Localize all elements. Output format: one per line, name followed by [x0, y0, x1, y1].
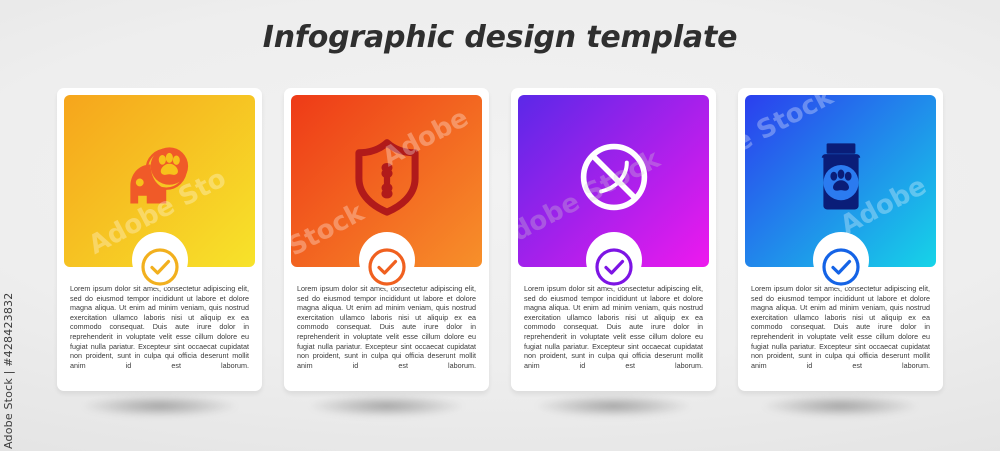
status-badge-check[interactable]: [593, 246, 635, 288]
infographic-card[interactable]: Adobe Sto Lorem ipsum dolor sit amet, co…: [57, 88, 262, 391]
status-badge-check[interactable]: [139, 246, 181, 288]
card-body-text: Lorem ipsum dolor sit amet, consectetur …: [751, 284, 930, 380]
card-body-text: Lorem ipsum dolor sit amet, consectetur …: [524, 284, 703, 380]
infographic-card[interactable]: dobe Stock Lorem ipsum dolor sit amet, c…: [511, 88, 716, 391]
status-badge-check[interactable]: [820, 246, 862, 288]
page-title: Infographic design template: [0, 20, 1000, 55]
status-badge-check[interactable]: [366, 246, 408, 288]
card-body-text: Lorem ipsum dolor sit amet, consectetur …: [297, 284, 476, 380]
infographic-card-row: Adobe Sto Lorem ipsum dolor sit amet, co…: [0, 88, 1000, 393]
infographic-card[interactable]: e Stock Adobe Lorem ipsum dolor sit amet…: [738, 88, 943, 391]
card-body-text: Lorem ipsum dolor sit amet, consectetur …: [70, 284, 249, 380]
infographic-card[interactable]: Adobe Stock Lorem ipsum dolor sit amet, …: [284, 88, 489, 391]
